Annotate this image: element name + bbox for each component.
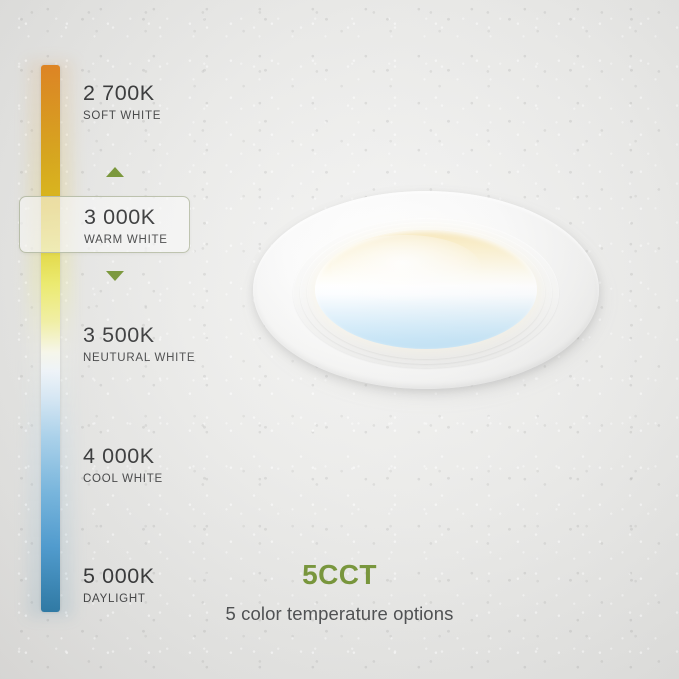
- cct-name-4000k: COOL WHITE: [83, 473, 163, 485]
- cct-kelvin-3000k: 3 000K: [84, 206, 168, 229]
- cct-kelvin-3500k: 3 500K: [83, 324, 195, 347]
- cct-option-3500k[interactable]: 3 500K NEUTURAL WHITE: [83, 324, 195, 364]
- page-subtitle: 5 color temperature options: [0, 603, 679, 625]
- cct-gradient-bar[interactable]: [41, 65, 60, 612]
- cct-option-3000k-selected[interactable]: 3 000K WARM WHITE: [19, 196, 190, 253]
- cct-kelvin-4000k: 4 000K: [83, 445, 163, 468]
- cct-option-2700k[interactable]: 2 700K SOFT WHITE: [83, 82, 161, 122]
- ceiling-background: 2 700K SOFT WHITE 3 000K WARM WHITE 3 50…: [0, 0, 679, 679]
- page-title: 5CCT: [0, 559, 679, 591]
- triangle-down-icon[interactable]: [106, 271, 124, 281]
- cct-name-3000k: WARM WHITE: [84, 234, 168, 246]
- recessed-downlight-fixture: [253, 191, 599, 392]
- cct-option-4000k[interactable]: 4 000K COOL WHITE: [83, 445, 163, 485]
- cct-name-2700k: SOFT WHITE: [83, 110, 161, 122]
- cct-name-3500k: NEUTURAL WHITE: [83, 352, 195, 364]
- cct-kelvin-2700k: 2 700K: [83, 82, 161, 105]
- fixture-diffuser-lens: [315, 230, 537, 349]
- triangle-up-icon[interactable]: [106, 167, 124, 177]
